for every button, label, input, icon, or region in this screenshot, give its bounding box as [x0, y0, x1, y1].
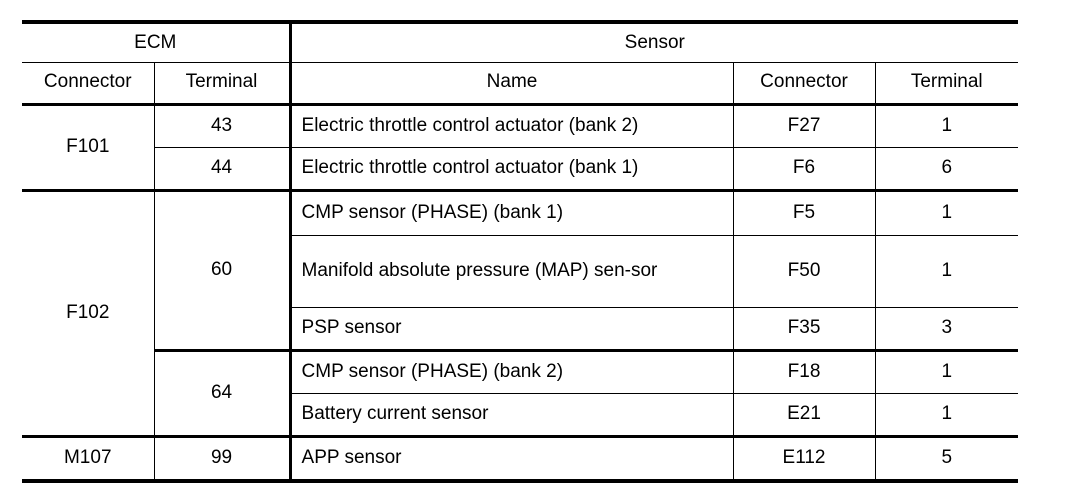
sensor-name-text: Electric throttle control actuator (bank… [292, 115, 733, 137]
cell-sensor-name: Battery current sensor [290, 393, 733, 436]
sensor-name-text: Electric throttle control actuator (bank… [292, 157, 733, 179]
cell-sensor-terminal: 1 [875, 350, 1018, 393]
cell-sensor-connector: F6 [733, 147, 875, 190]
cell-sensor-connector: F5 [733, 190, 875, 235]
cell-ecm-connector-f102: F102 [22, 190, 154, 436]
sensor-name-text: CMP sensor (PHASE) (bank 2) [292, 361, 733, 383]
sensor-name-text: CMP sensor (PHASE) (bank 1) [292, 202, 733, 224]
cell-sensor-terminal: 3 [875, 307, 1018, 350]
col-header-sensor-name: Name [290, 62, 733, 104]
cell-ecm-terminal: 43 [154, 104, 290, 147]
table-sheet: ECM Sensor Connector Terminal Name Conne… [0, 0, 1072, 488]
sensor-name-text: APP sensor [292, 447, 733, 469]
cell-sensor-name: APP sensor [290, 436, 733, 481]
ecm-sensor-table: ECM Sensor Connector Terminal Name Conne… [22, 20, 1018, 483]
cell-sensor-connector: F35 [733, 307, 875, 350]
cell-sensor-terminal: 1 [875, 393, 1018, 436]
cell-sensor-name: PSP sensor [290, 307, 733, 350]
col-header-sensor-connector: Connector [733, 62, 875, 104]
col-header-sensor-terminal: Terminal [875, 62, 1018, 104]
cell-sensor-terminal: 1 [875, 104, 1018, 147]
group-header-ecm: ECM [22, 22, 290, 62]
cell-sensor-terminal: 6 [875, 147, 1018, 190]
table-row: M107 99 APP sensor E112 5 [22, 436, 1018, 481]
group-header-sensor: Sensor [290, 22, 1018, 62]
cell-ecm-terminal-64: 64 [154, 350, 290, 436]
cell-ecm-terminal-60: 60 [154, 190, 290, 350]
cell-ecm-connector-m107: M107 [22, 436, 154, 481]
cell-sensor-name: Electric throttle control actuator (bank… [290, 147, 733, 190]
cell-sensor-name: CMP sensor (PHASE) (bank 2) [290, 350, 733, 393]
table-row: 44 Electric throttle control actuator (b… [22, 147, 1018, 190]
group-header-row: ECM Sensor [22, 22, 1018, 62]
cell-sensor-connector: F27 [733, 104, 875, 147]
sensor-name-text: Manifold absolute pressure (MAP) sen-­so… [292, 260, 733, 282]
cell-sensor-connector: F18 [733, 350, 875, 393]
sensor-name-text: PSP sensor [292, 317, 733, 339]
cell-sensor-name: CMP sensor (PHASE) (bank 1) [290, 190, 733, 235]
table-row: 64 CMP sensor (PHASE) (bank 2) F18 1 [22, 350, 1018, 393]
cell-sensor-connector: F50 [733, 235, 875, 307]
sensor-name-text: Battery current sensor [292, 403, 733, 425]
cell-sensor-connector: E21 [733, 393, 875, 436]
cell-ecm-terminal: 44 [154, 147, 290, 190]
col-header-ecm-terminal: Terminal [154, 62, 290, 104]
cell-sensor-terminal: 1 [875, 190, 1018, 235]
cell-sensor-terminal: 1 [875, 235, 1018, 307]
col-header-ecm-connector: Connector [22, 62, 154, 104]
column-header-row: Connector Terminal Name Connector Termin… [22, 62, 1018, 104]
table-row: F101 43 Electric throttle control actuat… [22, 104, 1018, 147]
table-row: F102 60 CMP sensor (PHASE) (bank 1) F5 1 [22, 190, 1018, 235]
cell-sensor-name: Manifold absolute pressure (MAP) sen-­so… [290, 235, 733, 307]
cell-ecm-terminal-99: 99 [154, 436, 290, 481]
cell-ecm-connector-f101: F101 [22, 104, 154, 190]
cell-sensor-name: Electric throttle control actuator (bank… [290, 104, 733, 147]
cell-sensor-connector: E112 [733, 436, 875, 481]
cell-sensor-terminal: 5 [875, 436, 1018, 481]
